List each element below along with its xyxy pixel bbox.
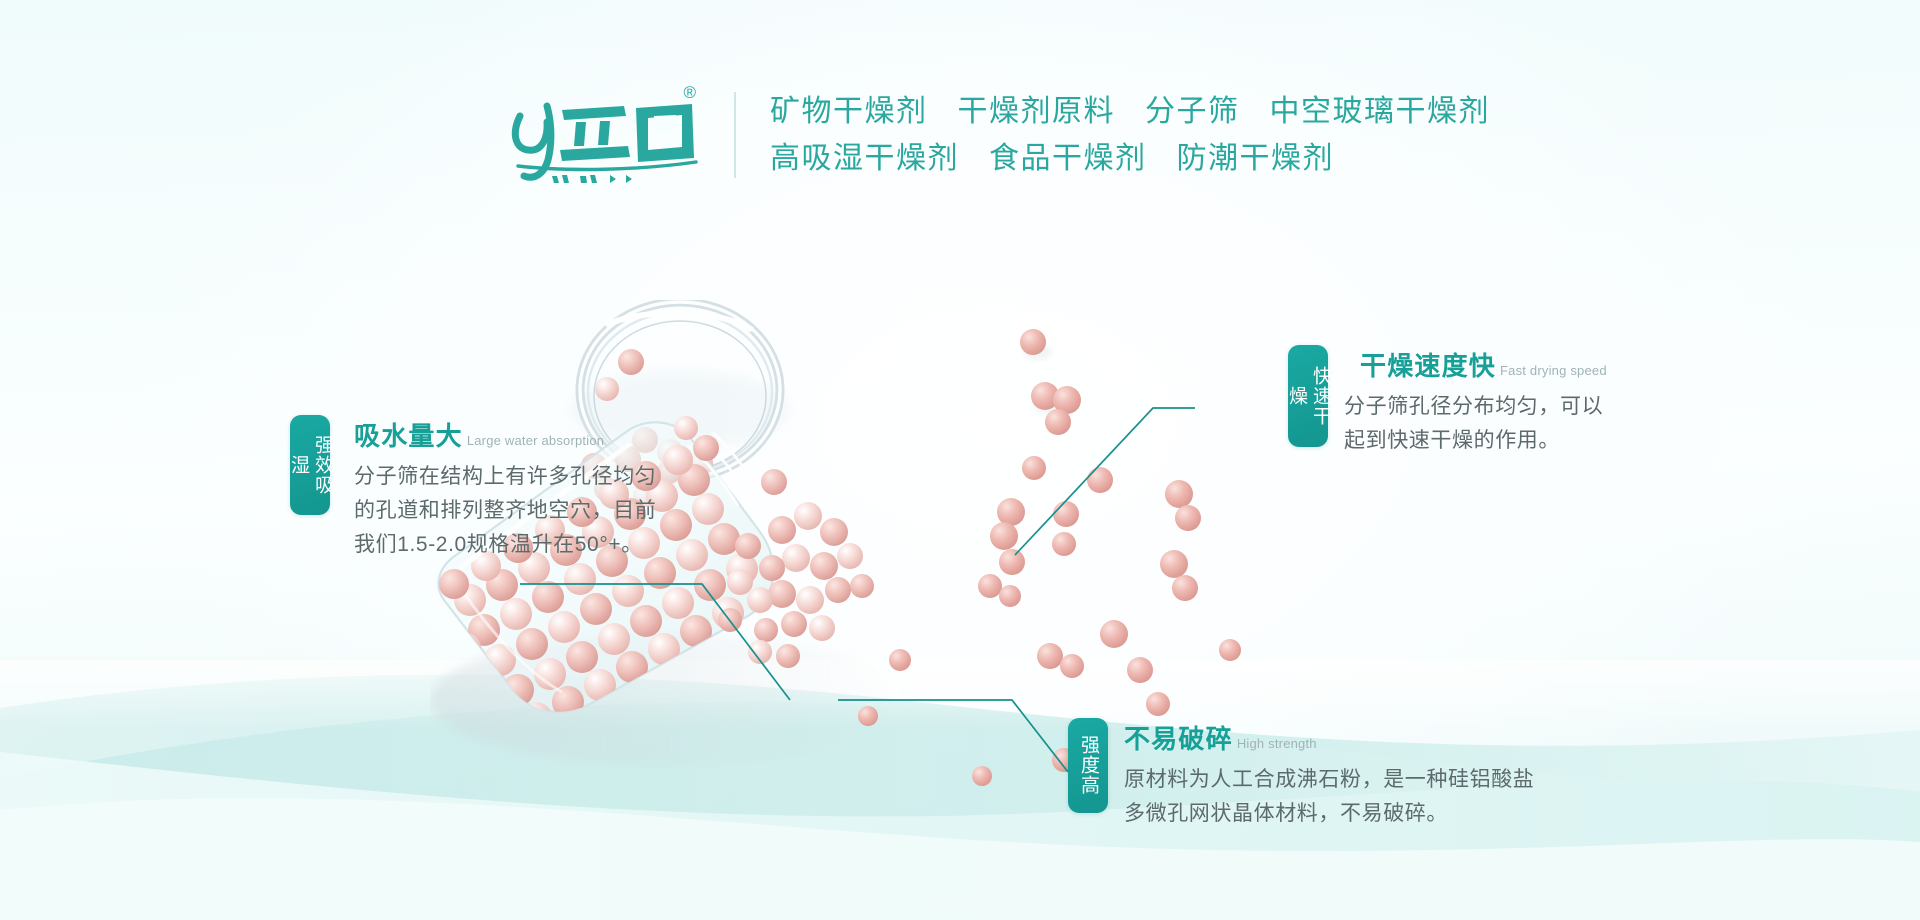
- feature-title-cn-bottom: 不易破碎: [1124, 719, 1233, 756]
- feature-title-en-bottom: High strength: [1237, 736, 1317, 751]
- feature-title-en-top: Fast drying speed: [1500, 363, 1607, 378]
- feature-large-water-absorption: 强效吸湿 吸水量大 Large water absorption 分子筛在结构上…: [290, 415, 656, 562]
- feature-title-cn-top: 干燥速度快: [1360, 346, 1496, 383]
- feature-text-top: 分子筛孔径分布均匀，可以 起到快速干燥的作用。: [1344, 390, 1607, 458]
- feature-high-strength: 强度高 不易破碎 High strength 原材料为人工合成沸石粉，是一种硅铝…: [1068, 718, 1534, 831]
- feature-badge-high-strength: 强度高: [1068, 718, 1108, 813]
- feature-badge-strong-absorption: 强效吸湿: [290, 415, 330, 515]
- feature-fast-drying-speed: 快速干燥 干燥速度快 Fast drying speed 分子筛孔径分布均匀，可…: [1288, 345, 1607, 458]
- feature-title-en-left: Large water absorption: [467, 433, 604, 448]
- banner-stage: ® 矿物干燥剂 干燥剂原料 分子筛 中空玻璃干燥剂 高吸湿干燥剂 食品干燥剂 防…: [0, 0, 1920, 920]
- feature-text-bottom: 原材料为人工合成沸石粉，是一种硅铝酸盐 多微孔网状晶体材料，不易破碎。: [1124, 763, 1534, 831]
- feature-badge-fast-drying: 快速干燥: [1288, 345, 1328, 447]
- feature-title-cn-left: 吸水量大: [354, 416, 463, 453]
- feature-text-left: 分子筛在结构上有许多孔径均匀 的孔道和排列整齐地空穴，目前 我们1.5-2.0规…: [354, 460, 656, 562]
